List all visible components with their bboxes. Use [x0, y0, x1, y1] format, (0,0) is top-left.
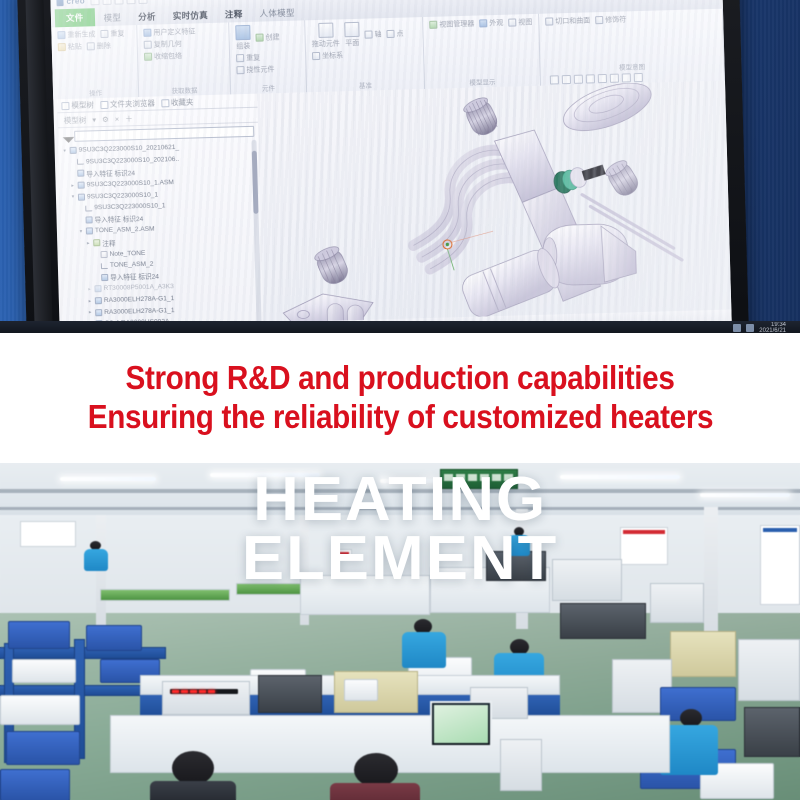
redo-icon[interactable] [138, 0, 147, 4]
banner-headline-2: Ensuring the reliability of customized h… [87, 398, 712, 437]
taskbar-app-icon-2[interactable] [746, 324, 754, 332]
ribbon-item-label: 拖动元件 [312, 38, 340, 49]
factory-machine [670, 631, 736, 677]
ribbon-item-label: 组装 [236, 41, 250, 51]
worker-torso [508, 535, 530, 556]
chevron-right-icon[interactable]: ▸ [86, 286, 92, 292]
model-tree-node-label: TONE_ASM_2 [110, 261, 154, 269]
ribbon-item-point[interactable]: 点 [386, 21, 404, 47]
udf-icon [143, 29, 151, 37]
banner-headline-1: Strong R&D and production capabilities [126, 359, 675, 398]
tab-live-simulation[interactable]: 实时仿真 [165, 7, 217, 24]
modifier-icon [595, 16, 603, 24]
bench-monitor [430, 701, 492, 747]
ribbon-item-label: 挠性元件 [246, 64, 274, 75]
model-tree-node-label: RT30008P5001A_A3K3 [103, 284, 173, 293]
factory-worker [506, 527, 532, 559]
ceiling-lamp [210, 473, 320, 477]
test-instrument-box [258, 675, 322, 713]
ribbon-item-drag-component[interactable]: 拖动元件 [311, 22, 340, 49]
model-part-knurled-cap-top [462, 95, 501, 139]
model-tree-node-label: 导入特征 标识24 [94, 213, 143, 224]
model-part-heater-coils [411, 149, 521, 269]
worker-head [354, 753, 398, 787]
paste-icon [58, 43, 66, 51]
model-part-sensor [551, 159, 607, 196]
model-tree-node-label: 9SU3C3Q223000S10_1 [94, 203, 165, 212]
create-icon [255, 34, 263, 42]
tree-tab-label: 模型树 [71, 99, 94, 111]
led-segment [172, 690, 179, 693]
wall-poster-safety [620, 527, 668, 565]
assemble-icon [235, 25, 250, 40]
tree-settings-icon[interactable]: ⚙ [102, 114, 109, 123]
ribbon-item-label: 视图 [518, 17, 532, 27]
model-part-valve [542, 223, 637, 286]
tab-file[interactable]: 文件 [55, 8, 95, 27]
model-tree-node-label: 9SU3C3Q223000S10_20210621_ [79, 144, 180, 154]
ribbon-item-plane[interactable]: 平面 [344, 22, 360, 48]
tree-close-icon[interactable]: × [115, 114, 120, 123]
clock-time: 19:34 [771, 322, 786, 328]
flexible-component-icon [236, 66, 244, 74]
storage-bin [6, 731, 80, 765]
tree-tab-favorites[interactable]: 收藏夹 [161, 96, 194, 108]
appearance-gallery-icon[interactable] [634, 73, 643, 82]
analog-gauge [344, 679, 378, 701]
model-tree-node-label: 9SU3C3Q223000S10_1 [87, 191, 158, 200]
csys-icon [101, 263, 108, 269]
coordinate-system-icon [312, 52, 320, 60]
taskbar-app-icon-1[interactable] [733, 324, 741, 332]
ribbon-item-view[interactable]: 视图 [508, 17, 532, 28]
star-icon [161, 99, 169, 107]
model-tree-node-label: 9SU3C3Q223000S10_1.ASM [87, 179, 174, 188]
ribbon-group-model-display: 视图管理器 外观 视图 模型显示 [423, 14, 541, 89]
tree-tab-label: 文件夹浏览器 [110, 98, 155, 110]
ceiling-lamp [60, 477, 156, 481]
datum-point-icon [386, 30, 394, 38]
ribbon-group-get-data: 用户定义特征 复制几何 收缩包络 获取数据 [137, 22, 231, 97]
factory-machine [738, 639, 800, 701]
creo-logo-mark [56, 0, 63, 6]
zoom-in-icon[interactable] [562, 75, 571, 84]
view-manager-icon [429, 21, 437, 29]
csys-icon [77, 159, 84, 165]
open-file-icon[interactable] [102, 0, 111, 5]
folder-icon [100, 100, 108, 108]
ribbon-item-shrinkwrap[interactable]: 收缩包络 [144, 51, 182, 62]
led-segment [181, 690, 188, 693]
chevron-right-icon[interactable]: ▸ [70, 182, 76, 188]
wall-sign-exit [332, 549, 352, 559]
model-part-manifold [494, 128, 601, 303]
tree-tab-label: 收藏夹 [171, 96, 194, 108]
chevron-down-icon[interactable]: ▾ [78, 229, 84, 235]
asm-icon [70, 147, 77, 154]
ribbon-item-label: 坐标系 [322, 50, 343, 61]
regenerate-icon [57, 31, 65, 39]
save-icon[interactable] [114, 0, 123, 5]
test-instrument-psu [162, 681, 250, 715]
ribbon-item-flexible[interactable]: 挠性元件 [236, 64, 274, 75]
part-icon [95, 297, 102, 304]
model-tree-panel: 模型树 文件夹浏览器 收藏夹 模型树 ▾ ⚙ × ＋ [57, 94, 264, 333]
feat-icon [77, 170, 84, 177]
ceiling-lamp [700, 493, 790, 497]
copy-geometry-icon [144, 41, 152, 49]
cad-workstation-photo: creo 文件 模型 分析 实时仿真 注释 人 [0, 0, 800, 333]
storage-bin [8, 621, 70, 649]
model-part-heater-coils-outline [411, 149, 521, 269]
model-part-dish [558, 81, 657, 141]
model-part-knurled-cap-left [313, 244, 351, 287]
ribbon-group-datum: 拖动元件 平面 轴 点 [305, 17, 425, 92]
creo-logo: creo [56, 0, 85, 6]
repaint-icon[interactable] [586, 74, 595, 83]
chevron-right-icon[interactable]: ▸ [85, 240, 91, 246]
work-bench [300, 575, 430, 615]
storage-bin [86, 625, 142, 651]
ribbon-item-label: 用户定义特征 [153, 26, 195, 37]
drag-component-icon [318, 23, 333, 38]
appearance-icon [479, 19, 487, 27]
factory-floor-photo: HEATING ELEMENT [0, 463, 800, 800]
creo-app-name: creo [66, 0, 85, 6]
zoom-out-icon[interactable] [574, 75, 583, 84]
folder-icon [93, 239, 100, 246]
ribbon-item-label: 删除 [97, 41, 111, 51]
ribbon-item-delete[interactable]: 删除 [87, 41, 111, 52]
worker-torso [402, 632, 446, 668]
wall-column [704, 507, 718, 637]
ribbon-item-label: 收缩包络 [154, 51, 182, 62]
worker-head [172, 751, 214, 785]
tree-tab-model-tree[interactable]: 模型树 [61, 99, 94, 111]
model-tree-node-label: RA3000ELH278A-G1_1 [104, 307, 175, 316]
tree-filter-icon[interactable]: ▾ [92, 115, 96, 124]
factory-green-signboard [440, 469, 518, 489]
datum-display-icon[interactable] [622, 73, 631, 82]
feat-icon [101, 274, 108, 281]
ribbon-item-label: 复制几何 [154, 39, 182, 50]
model-tree-node-label: Note_TONE [109, 250, 145, 258]
ribbon-item-label: 重新生成 [67, 29, 95, 40]
model-tree-node-label: 导入特征 标识24 [86, 167, 135, 178]
ribbon-group-model-intent: 切口和曲面 修饰符 模型意图 [539, 9, 725, 86]
spin-center-icon[interactable] [598, 74, 607, 83]
datum-axis-icon [364, 30, 372, 38]
model-tree-node-label: TONE_ASM_2.ASM [95, 226, 155, 235]
wall-poster-notice [760, 525, 800, 605]
ribbon-item-label: 粘贴 [68, 42, 82, 52]
storage-bin [0, 769, 70, 800]
model-part-rods [582, 192, 682, 263]
repeat-component-icon [236, 54, 244, 62]
factory-worker [398, 619, 450, 677]
ribbon-item-label: 点 [396, 29, 403, 39]
selection-marker [443, 231, 495, 270]
promo-text-banner: Strong R&D and production capabilities E… [0, 333, 800, 463]
cuts-surfaces-icon [545, 17, 553, 25]
ribbon-item-label: 外观 [489, 18, 503, 28]
tab-model[interactable]: 模型 [95, 9, 129, 26]
ceiling-beam [0, 507, 800, 510]
asm-icon [86, 228, 93, 235]
ribbon-item-label: 视图管理器 [439, 19, 474, 30]
factory-worker-front [150, 751, 236, 800]
tab-analysis[interactable]: 分析 [130, 8, 164, 25]
chevron-down-icon[interactable]: ▾ [62, 148, 68, 154]
delete-icon [87, 42, 95, 50]
ribbon-item-label: 重复 [110, 28, 124, 38]
model-tree-node-label: 导入特征 标识24 [110, 271, 159, 282]
factory-machine [560, 603, 646, 639]
tab-annotate[interactable]: 注释 [217, 6, 251, 23]
repeat-icon [100, 30, 108, 38]
funnel-icon[interactable]: ⏷ [62, 132, 71, 141]
ceiling-beam [0, 489, 800, 493]
ribbon-item-repeat[interactable]: 重复 [100, 28, 124, 39]
ribbon-item-repeat-comp[interactable]: 重复 [236, 53, 260, 64]
monitor-screen: creo 文件 模型 分析 实时仿真 注释 人 [50, 0, 731, 333]
chevron-right-icon[interactable]: ▸ [87, 298, 93, 304]
marketing-banner-page: creo 文件 模型 分析 实时仿真 注释 人 [0, 0, 800, 800]
model-tree-node-label: RA3000ELH278A-G1_1 [104, 295, 175, 304]
graphics-viewport[interactable] [257, 81, 732, 333]
wall-poster-board [20, 521, 76, 547]
shrinkwrap-icon [144, 53, 152, 61]
factory-machine [744, 707, 800, 757]
ribbon-item-label: 轴 [374, 29, 381, 39]
factory-machine [650, 583, 704, 623]
ribbon-item-label: 切口和曲面 [555, 15, 590, 26]
worker-torso [84, 549, 108, 571]
quick-access-toolbar[interactable] [90, 0, 147, 5]
taskbar-clock[interactable]: 19:34 2021/6/21 [759, 322, 786, 333]
asm-icon [78, 193, 85, 200]
ribbon-item-cuts-surfaces[interactable]: 切口和曲面 [545, 15, 590, 26]
ribbon-item-label: 平面 [345, 38, 359, 48]
display-style-icon[interactable] [610, 74, 619, 83]
model-part-knurled-cap-right [603, 158, 641, 200]
led-segment [190, 690, 197, 693]
part-icon [95, 309, 102, 316]
ribbon-item-appearance[interactable]: 外观 [479, 18, 503, 29]
factory-worker-front [330, 753, 420, 800]
desktop-tower [500, 739, 542, 791]
datum-plane-icon [344, 22, 359, 37]
chevron-down-icon[interactable]: ▾ [70, 194, 76, 200]
ribbon-item-modifier[interactable]: 修饰符 [595, 14, 626, 25]
ribbon-item-regenerate[interactable]: 重新生成 [57, 29, 95, 40]
model-tree-icon [61, 101, 69, 109]
undo-icon[interactable] [126, 0, 135, 4]
ribbon-item-axis[interactable]: 轴 [364, 21, 382, 47]
instrument-led-display [170, 689, 238, 694]
factory-machine [552, 559, 622, 601]
storage-bin [12, 659, 76, 683]
asm-icon [78, 182, 85, 189]
worker-torso [330, 783, 420, 800]
ribbon-item-paste[interactable]: 粘贴 [58, 42, 82, 53]
csys-icon [85, 205, 92, 211]
heater-assembly-3d-model[interactable] [257, 81, 732, 333]
ribbon-item-csys[interactable]: 坐标系 [312, 50, 343, 61]
tree-add-icon[interactable]: ＋ [125, 113, 133, 124]
chevron-right-icon[interactable]: ▸ [87, 309, 93, 315]
ceiling-lamp [560, 475, 680, 479]
model-tree-toolbar-label: 模型树 [64, 114, 87, 126]
factory-worker [82, 541, 110, 575]
model-tree-list[interactable]: ▾9SU3C3Q223000S10_20210621_9SU3C3Q223000… [58, 139, 265, 333]
model-tree-node-label: 注释 [102, 237, 115, 247]
model-tree-node-label: 9SU3C3Q223000S10_202106.. [86, 156, 179, 166]
feat-icon [86, 216, 93, 223]
tab-manikin[interactable]: 人体模型 [251, 4, 303, 21]
new-file-icon[interactable] [90, 0, 99, 5]
windows-taskbar[interactable]: 19:34 2021/6/21 [0, 321, 800, 333]
zoom-fit-icon[interactable] [550, 75, 559, 84]
ribbon-item-udf[interactable]: 用户定义特征 [143, 26, 195, 37]
ribbon-item-label: 重复 [246, 53, 260, 63]
conveyor-belt [100, 589, 230, 601]
led-segment [208, 690, 215, 693]
ribbon-group-operations: 重新生成 重复 粘贴 [51, 25, 139, 99]
ribbon-item-copy-geometry[interactable]: 复制几何 [144, 39, 182, 50]
led-segment [199, 690, 206, 693]
model-part-cylinder [458, 245, 563, 321]
part-icon [94, 286, 101, 293]
ribbon-item-view-manager[interactable]: 视图管理器 [429, 19, 474, 30]
ribbon-item-create[interactable]: 创建 [255, 24, 280, 51]
worker-torso [150, 781, 236, 800]
view-icon [508, 18, 516, 26]
ribbon-item-label: 修饰符 [605, 14, 626, 25]
storage-bin [0, 695, 80, 725]
ribbon-item-label: 创建 [265, 32, 279, 42]
tree-tab-folder-browser[interactable]: 文件夹浏览器 [100, 98, 155, 111]
ribbon-group-component: 组装 创建 重复 挠性 [229, 20, 307, 94]
ribbon-item-assemble[interactable]: 组装 [235, 25, 251, 51]
note-icon [100, 251, 107, 258]
